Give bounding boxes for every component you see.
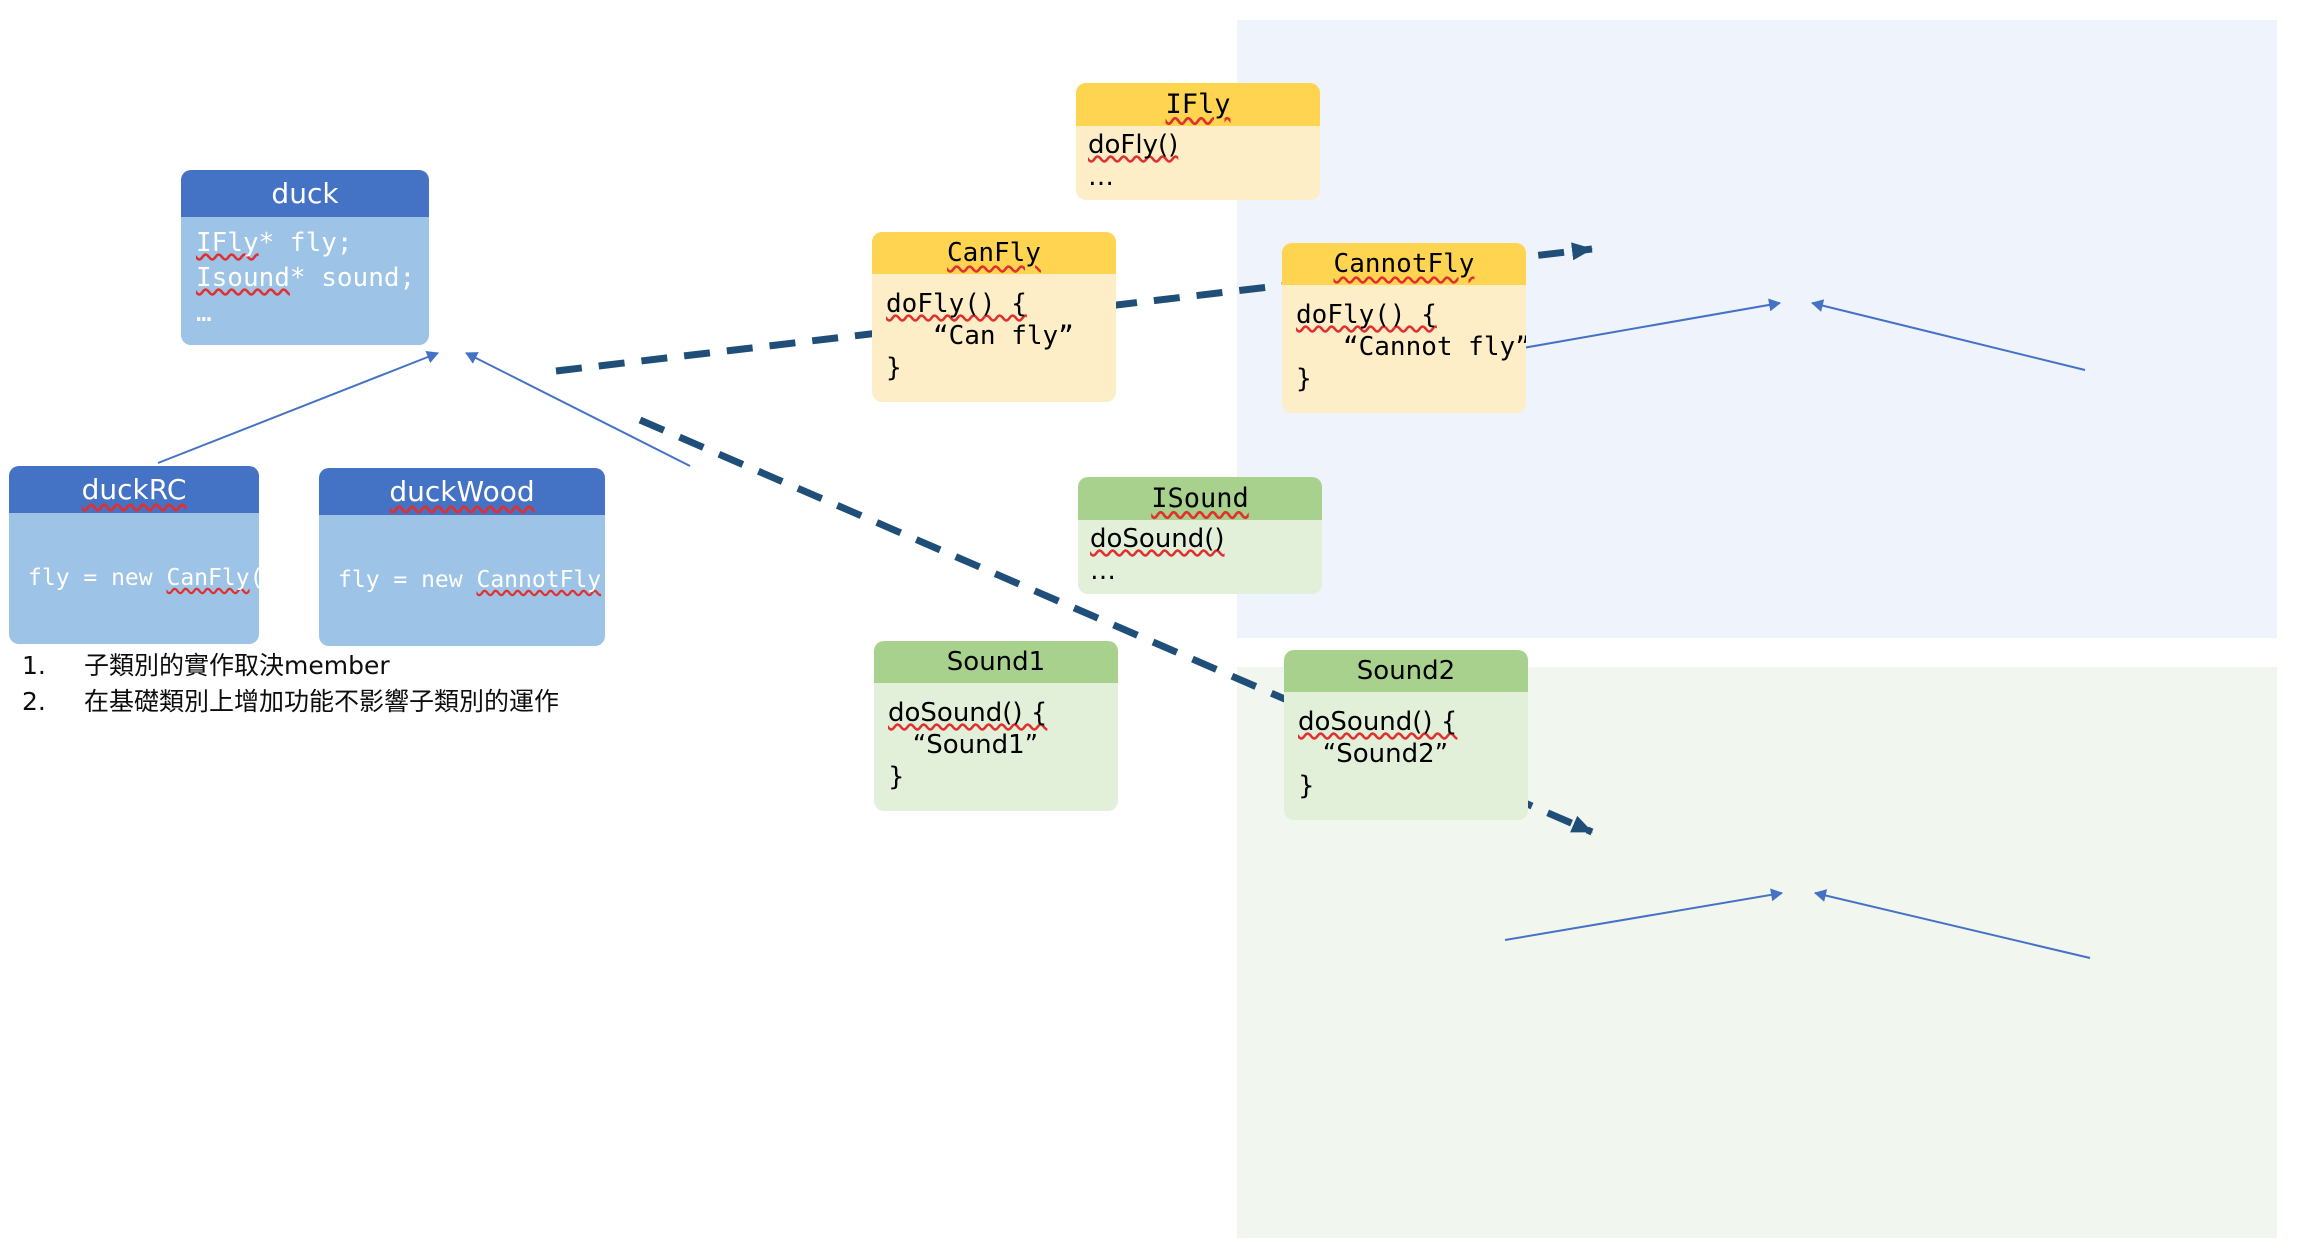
class-members-canfly: doFly() { “Can fly”} [872, 274, 1116, 402]
note-number-2: 2. [22, 684, 84, 720]
class-title-duckwood: duckWood [319, 468, 605, 515]
method-body-cannotfly: “Cannot fly” [1296, 332, 1526, 362]
note-number-1: 1. [22, 648, 84, 684]
method-close-canfly: } [886, 353, 902, 383]
class-members-duck: IFly* fly;Isound* sound;… [181, 217, 429, 345]
member-decl-fly: * fly; [259, 228, 353, 258]
note-text-2: 在基礎類別上增加功能不影響子類別的運作 [84, 684, 782, 720]
class-title-ifly: IFly [1076, 83, 1320, 126]
method-dofly-ifly: doFly() [1088, 130, 1178, 160]
method-close-cannotfly: } [1296, 364, 1312, 394]
method-dosound-sound1: doSound() { [888, 698, 1047, 728]
method-dofly-cannotfly: doFly() { [1296, 300, 1437, 330]
class-title-duckrc: duckRC [9, 466, 259, 513]
class-title-cannotfly: CannotFly [1282, 243, 1526, 285]
method-dofly-canfly: doFly() { [886, 289, 1027, 319]
class-box-isound[interactable]: ISound doSound()… [1078, 477, 1322, 594]
method-dosound-sound2: doSound() { [1298, 707, 1457, 737]
class-members-ifly: doFly()… [1076, 126, 1320, 200]
class-title-isound: ISound [1078, 477, 1322, 520]
ctor-cannotfly-ref: CannotFly [476, 567, 601, 593]
class-title-duck: duck [181, 170, 429, 217]
ctor-parens-duckwood: () [601, 567, 605, 593]
class-box-duck[interactable]: duck IFly* fly;Isound* sound;… [181, 170, 429, 345]
assignment-duckwood: fly = new [338, 567, 476, 593]
class-members-isound: doSound()… [1078, 520, 1322, 594]
member-ellipsis-isound: … [1090, 556, 1116, 586]
member-decl-sound: * sound; [290, 263, 415, 293]
note-text-1: 子類別的實作取決member [84, 648, 782, 684]
class-box-sound1[interactable]: Sound1 doSound() { “Sound1”} [874, 641, 1118, 811]
ctor-parens-duckrc: () [250, 565, 259, 591]
class-box-cannotfly[interactable]: CannotFly doFly() { “Cannot fly”} [1282, 243, 1526, 413]
class-title-canfly: CanFly [872, 232, 1116, 274]
class-members-cannotfly: doFly() { “Cannot fly”} [1282, 285, 1526, 413]
edge-duckwood-to-duck [466, 353, 690, 466]
notes-list: 1. 子類別的實作取決member 2. 在基礎類別上增加功能不影響子類別的運作 [22, 648, 782, 720]
method-body-sound2: “Sound2” [1298, 739, 1448, 769]
list-item: 2. 在基礎類別上增加功能不影響子類別的運作 [22, 684, 782, 720]
method-dosound-isound: doSound() [1090, 524, 1225, 554]
class-members-sound2: doSound() { “Sound2”} [1284, 692, 1528, 820]
ctor-canfly-ref: CanFly [166, 565, 249, 591]
diagram-canvas: IFly (dependency, dashed) --> ISound (de… [0, 0, 2318, 1258]
member-type-isound: Isound [196, 263, 290, 293]
member-ellipsis-duck: … [196, 298, 212, 328]
class-box-duckwood[interactable]: duckWood fly = new CannotFly() [319, 468, 605, 646]
method-close-sound2: } [1298, 771, 1315, 801]
member-type-ifly: IFly [196, 228, 259, 258]
class-box-canfly[interactable]: CanFly doFly() { “Can fly”} [872, 232, 1116, 402]
list-item: 1. 子類別的實作取決member [22, 648, 782, 684]
method-body-sound1: “Sound1” [888, 730, 1038, 760]
method-body-canfly: “Can fly” [886, 321, 1074, 351]
class-title-sound1: Sound1 [874, 641, 1118, 683]
assignment-duckrc: fly = new [28, 565, 166, 591]
class-box-duckrc[interactable]: duckRC fly = new CanFly() [9, 466, 259, 644]
class-members-duckwood: fly = new CannotFly() [319, 515, 605, 646]
class-title-sound2: Sound2 [1284, 650, 1528, 692]
edge-duckrc-to-duck [158, 353, 438, 463]
class-box-ifly[interactable]: IFly doFly()… [1076, 83, 1320, 200]
class-members-sound1: doSound() { “Sound1”} [874, 683, 1118, 811]
member-ellipsis-ifly: … [1088, 162, 1114, 192]
class-box-sound2[interactable]: Sound2 doSound() { “Sound2”} [1284, 650, 1528, 820]
method-close-sound1: } [888, 762, 905, 792]
class-members-duckrc: fly = new CanFly() [9, 513, 259, 644]
